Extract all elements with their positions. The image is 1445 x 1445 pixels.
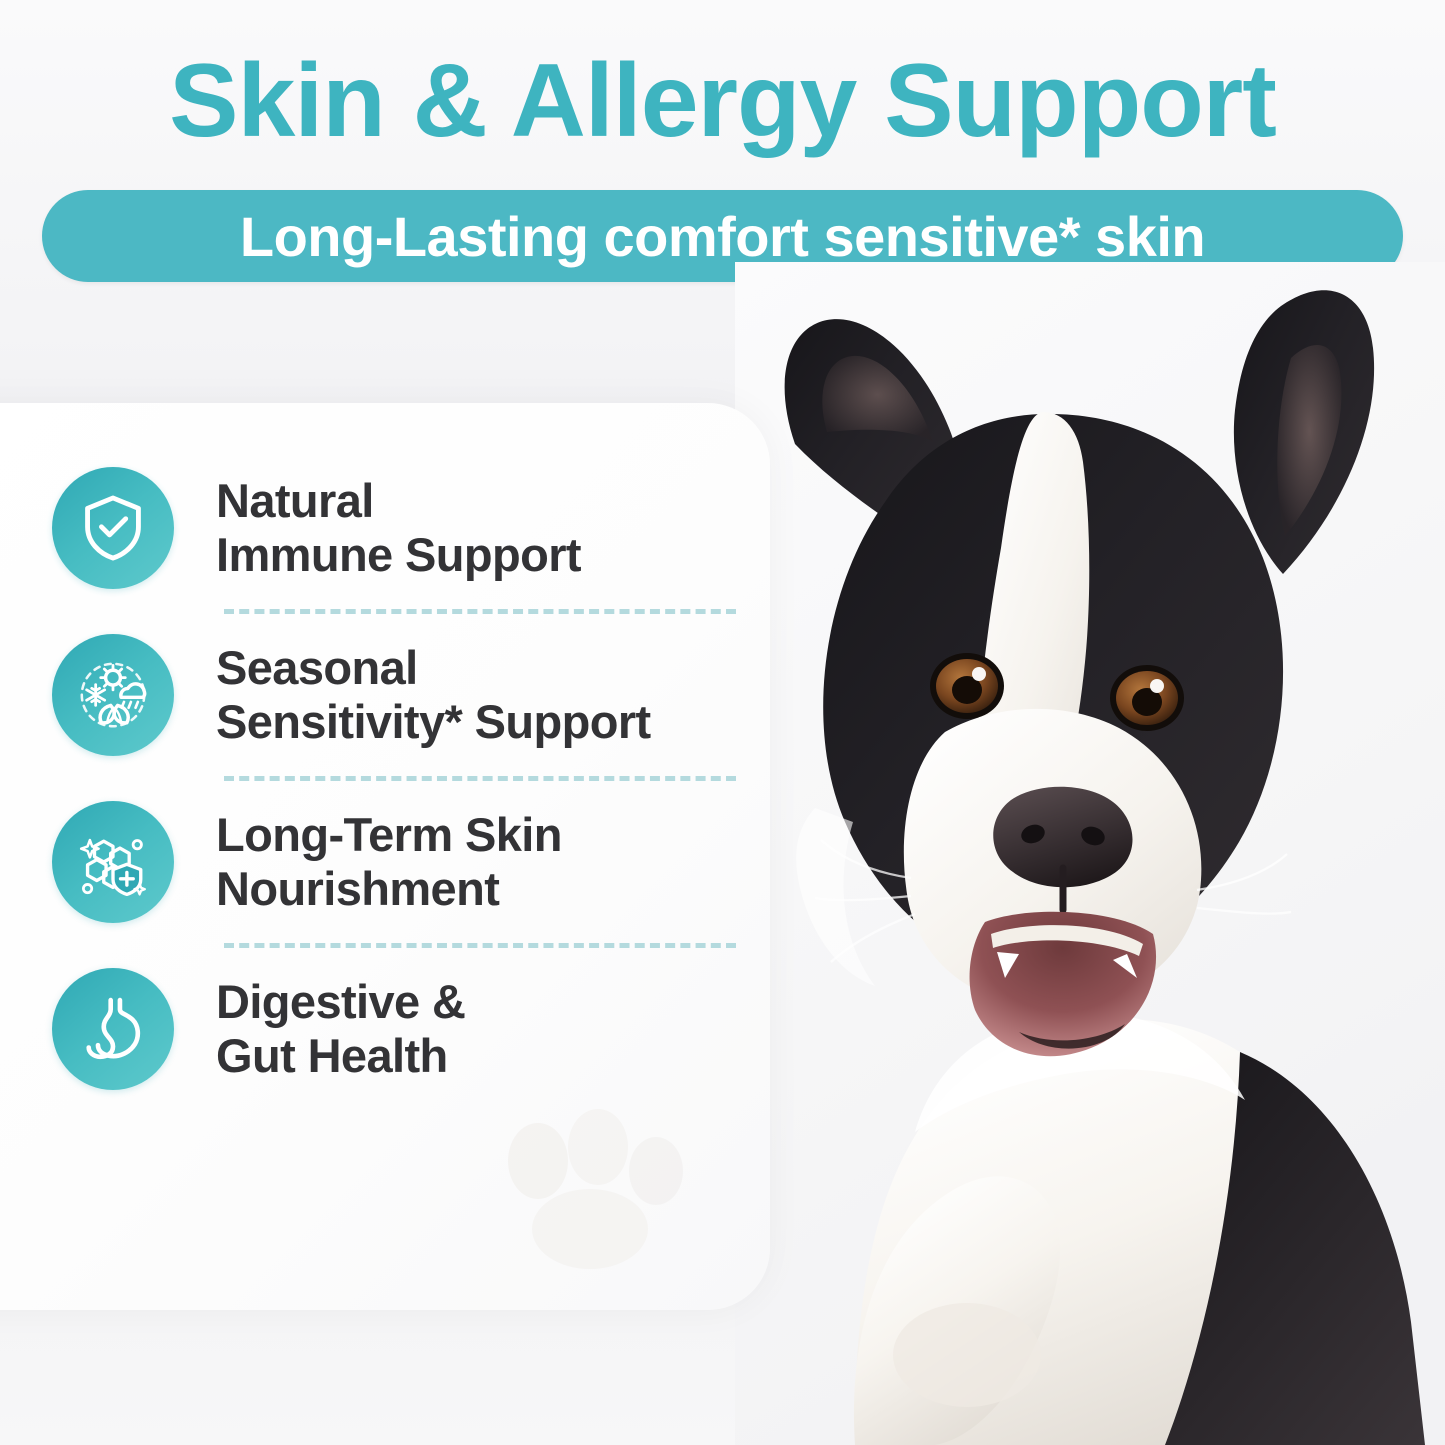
benefit-item-natural-immune-support[interactable]: Natural Immune Support <box>52 447 752 609</box>
stomach-badge <box>52 968 174 1090</box>
benefit-item-seasonal-sensitivity-support[interactable]: Seasonal Sensitivity* Support <box>52 614 752 776</box>
benefit-item-long-term-skin-nourishment[interactable]: Long-Term Skin Nourishment <box>52 781 752 943</box>
benefit-label: Long-Term Skin Nourishment <box>216 808 562 915</box>
product-infographic: Skin & Allergy Support Long-Lasting comf… <box>0 0 1445 1445</box>
molecule-shield-badge <box>52 801 174 923</box>
shield-check-badge <box>52 467 174 589</box>
four-seasons-badge <box>52 634 174 756</box>
molecule-shield-icon <box>76 825 150 899</box>
four-seasons-icon <box>76 658 150 732</box>
page-title: Skin & Allergy Support <box>0 46 1445 156</box>
benefit-item-digestive-gut-health[interactable]: Digestive & Gut Health <box>52 948 752 1110</box>
benefits-card: Natural Immune Support <box>0 403 770 1310</box>
paw-watermark-icon <box>470 1103 700 1273</box>
benefit-label: Digestive & Gut Health <box>216 975 465 1082</box>
stomach-icon <box>76 992 150 1066</box>
border-collie-illustration <box>735 262 1445 1445</box>
benefits-list: Natural Immune Support <box>52 447 752 1110</box>
benefit-label: Seasonal Sensitivity* Support <box>216 641 651 748</box>
subtitle-text: Long-Lasting comfort sensitive* skin <box>240 204 1205 269</box>
benefit-label: Natural Immune Support <box>216 474 581 581</box>
shield-check-icon <box>76 491 150 565</box>
dog-photo <box>735 262 1445 1445</box>
